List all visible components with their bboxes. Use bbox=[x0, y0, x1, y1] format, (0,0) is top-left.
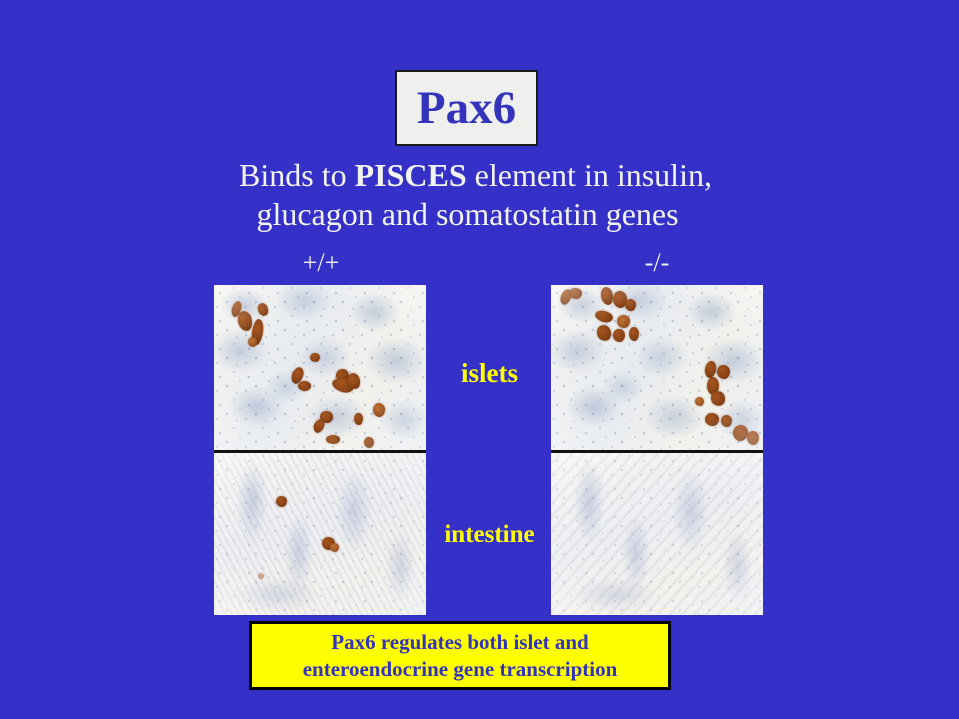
subtitle-text: Binds to PISCES element in insulin, gluc… bbox=[0, 156, 959, 234]
conclusion-box: Pax6 regulates both islet and enteroendo… bbox=[249, 621, 671, 690]
dab-stained-cluster bbox=[354, 413, 363, 425]
row-label-intestine: intestine bbox=[412, 522, 567, 547]
dab-stained-cluster bbox=[569, 288, 582, 299]
subtitle-line1-after: element in insulin, bbox=[467, 157, 712, 193]
dab-stained-cluster bbox=[326, 435, 340, 444]
subtitle-line-1: Binds to PISCES element in insulin, bbox=[112, 156, 839, 195]
dab-stained-cell bbox=[258, 573, 264, 579]
title-box: Pax6 bbox=[395, 70, 538, 146]
row-label-islets: islets bbox=[424, 360, 555, 387]
dab-stained-cluster bbox=[625, 299, 636, 311]
column-header-knockout: -/- bbox=[617, 250, 697, 276]
subtitle-line-2: glucagon and somatostatin genes bbox=[96, 195, 839, 234]
dab-stained-cluster bbox=[310, 353, 320, 362]
conclusion-line-1: Pax6 regulates both islet and bbox=[331, 629, 588, 656]
dab-stained-cluster bbox=[629, 327, 639, 341]
nuclei-texture bbox=[551, 285, 763, 450]
dab-stained-cluster bbox=[717, 365, 730, 379]
dab-stained-cluster bbox=[248, 337, 257, 347]
dab-stained-cluster bbox=[617, 315, 630, 328]
conclusion-line-2: enteroendocrine gene transcription bbox=[303, 656, 618, 683]
slide-canvas: Pax6 Binds to PISCES element in insulin,… bbox=[0, 0, 959, 719]
micrograph-knockout-intestine bbox=[551, 453, 763, 615]
micrograph-knockout-islets bbox=[551, 285, 763, 450]
dab-stained-cell bbox=[330, 543, 339, 552]
dab-stained-cluster bbox=[373, 403, 385, 417]
dab-stained-cluster bbox=[705, 413, 719, 426]
nuclei-texture bbox=[214, 453, 426, 615]
dab-stained-cluster bbox=[747, 431, 759, 445]
nuclei-texture bbox=[551, 453, 763, 615]
dab-stained-cluster bbox=[364, 437, 374, 448]
dab-stained-cluster bbox=[721, 415, 732, 427]
dab-stained-cluster bbox=[695, 397, 704, 406]
dab-stained-cluster bbox=[613, 329, 625, 342]
subtitle-pisces-emphasis: PISCES bbox=[355, 157, 467, 193]
dab-stained-cell bbox=[276, 496, 287, 507]
micrograph-wild-type-intestine bbox=[214, 453, 426, 615]
column-header-wild-type: +/+ bbox=[281, 250, 361, 276]
micrograph-wild-type-islets bbox=[214, 285, 426, 450]
page-title: Pax6 bbox=[417, 85, 516, 132]
dab-stained-cluster bbox=[298, 381, 311, 391]
subtitle-line1-before: Binds to bbox=[239, 157, 355, 193]
